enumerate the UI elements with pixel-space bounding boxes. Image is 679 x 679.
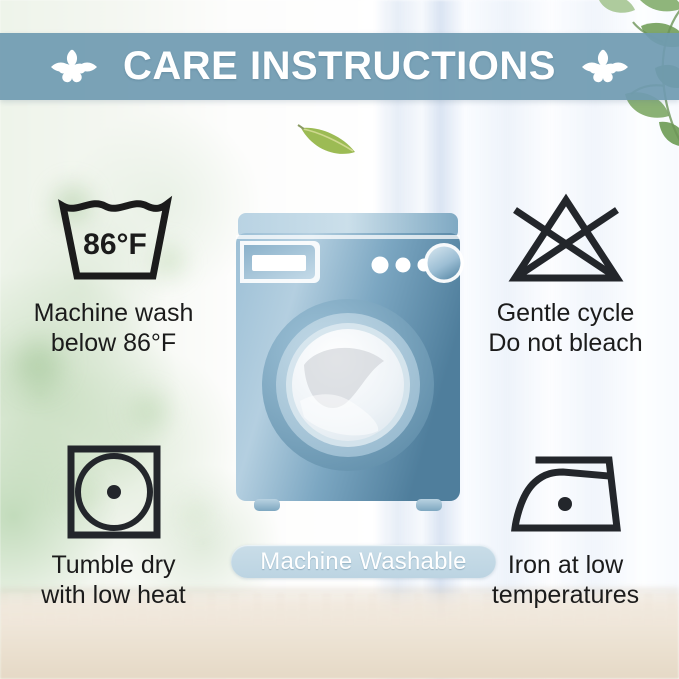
machine-washable-badge: Machine Washable: [231, 545, 496, 578]
page-title: CARE INSTRUCTIONS: [123, 44, 556, 89]
care-instructions-graphic: CARE INSTRUCTIONS 86°F Machine wash belo…: [0, 0, 679, 679]
care-item-iron: Iron at low temperatures: [458, 442, 673, 610]
fleur-de-lis-right-icon: [582, 47, 628, 87]
care-label-iron: Iron at low temperatures: [492, 550, 639, 610]
care-label-machine-wash: Machine wash below 86°F: [34, 298, 194, 358]
wash-temperature-value: 86°F: [83, 228, 147, 261]
header-banner: CARE INSTRUCTIONS: [0, 33, 679, 100]
wash-tub-icon: 86°F: [49, 190, 179, 290]
falling-leaf-icon: [297, 118, 361, 160]
care-item-tumble-dry: Tumble dry with low heat: [6, 442, 221, 610]
washer-indicator-lights: [372, 257, 431, 274]
triangle-crossed-icon: [501, 190, 631, 290]
fleur-de-lis-left-icon: [51, 47, 97, 87]
care-label-tumble-dry: Tumble dry with low heat: [41, 550, 186, 610]
washing-machine-illustration: [228, 205, 468, 535]
iron-low-icon: [503, 442, 629, 542]
care-item-machine-wash: 86°F Machine wash below 86°F: [6, 190, 221, 358]
badge-label: Machine Washable: [260, 548, 466, 576]
care-label-gentle-cycle: Gentle cycle Do not bleach: [488, 298, 642, 358]
care-item-gentle-cycle: Gentle cycle Do not bleach: [458, 190, 673, 358]
washer-dial-knob: [424, 243, 464, 283]
tumble-dry-low-icon: [64, 442, 164, 542]
washer-control-panel: [240, 241, 320, 283]
